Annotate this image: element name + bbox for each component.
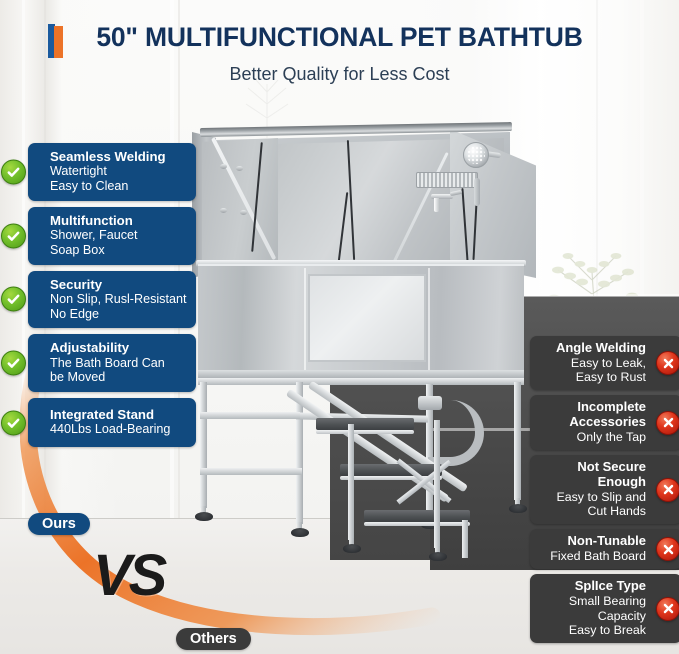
stand-leg	[514, 382, 521, 500]
drawback-title: Not Secure Enough	[537, 460, 646, 490]
page-subtitle: Better Quality for Less Cost	[0, 64, 679, 85]
feature-line: Easy to Clean	[50, 179, 187, 194]
stair-stringer	[286, 389, 450, 503]
check-icon	[1, 223, 26, 248]
others-drawback-item[interactable]: Non-Tunable Fixed Bath Board	[530, 529, 679, 569]
others-drawback-item[interactable]: SplIce Type Small Bearing Capacity Easy …	[530, 574, 679, 643]
cross-icon	[656, 351, 679, 375]
ours-feature-item[interactable]: Multifunction Shower, Faucet Soap Box	[28, 207, 196, 265]
ours-feature-list: Seamless Welding Watertight Easy to Clea…	[28, 143, 196, 453]
drawback-line: Only the Tap	[537, 430, 646, 444]
check-icon	[1, 351, 26, 376]
drawback-line: Easy to Leak,	[537, 356, 646, 370]
stand-cross-rail	[200, 412, 300, 419]
feature-line: Watertight	[50, 164, 187, 179]
stair-tread	[340, 464, 442, 476]
drawback-line: Cut Hands	[537, 504, 646, 518]
wall-knob	[240, 210, 247, 215]
shower-hose-holder	[474, 178, 480, 206]
feature-line: Non Slip, Rusl-Resistant	[50, 292, 187, 307]
wall-knob	[220, 208, 227, 213]
wall-knob	[236, 166, 243, 171]
others-drawback-item[interactable]: Not Secure Enough Easy to Slip and Cut H…	[530, 455, 679, 524]
stair-tread-lip	[316, 430, 414, 434]
feature-title: Seamless Welding	[50, 149, 187, 164]
feature-line: Shower, Faucet	[50, 228, 187, 243]
page-title: 50" MULTIFUNCTIONAL PET BATHTUB	[0, 22, 679, 53]
tub-seam	[428, 268, 430, 372]
drawback-title: Angle Welding	[537, 341, 646, 356]
adjustable-foot	[195, 512, 213, 521]
adjustable-foot	[509, 504, 527, 513]
feature-line: 440Lbs Load-Bearing	[50, 422, 187, 437]
soap-box-grate	[416, 172, 478, 188]
shower-head-nozzles	[467, 146, 485, 164]
drawback-line: Easy to Slip and	[537, 490, 646, 504]
drawback-line: Small Bearing Capacity	[537, 594, 646, 623]
bath-board-panel	[308, 274, 426, 362]
ours-label-pill: Ours	[28, 513, 90, 535]
product-image	[178, 112, 550, 572]
ours-feature-item[interactable]: Adjustability The Bath Board Can be Move…	[28, 334, 196, 392]
stair-leg	[434, 420, 440, 548]
cross-icon	[656, 597, 679, 621]
others-drawback-list: Angle Welding Easy to Leak, Easy to Rust…	[530, 336, 679, 648]
ours-feature-item[interactable]: Integrated Stand 440Lbs Load-Bearing	[28, 398, 196, 447]
three-step-stairs	[288, 380, 508, 580]
drawback-line: Fixed Bath Board	[537, 549, 646, 563]
drawback-line: Easy to Rust	[537, 370, 646, 384]
versus-label: VS	[93, 547, 164, 605]
stand-leg	[200, 382, 207, 508]
faucet-spout	[434, 198, 439, 212]
adjustable-foot	[429, 552, 447, 561]
stair-leg	[462, 520, 468, 558]
check-icon	[1, 159, 26, 184]
feature-title: Security	[50, 277, 187, 292]
feature-line: No Edge	[50, 307, 187, 322]
drawback-title: Non-Tunable	[537, 534, 646, 549]
feature-title: Adjustability	[50, 340, 187, 355]
feature-title: Multifunction	[50, 213, 187, 228]
others-drawback-item[interactable]: Angle Welding Easy to Leak, Easy to Rust	[530, 336, 679, 390]
tub-seam	[304, 268, 306, 372]
drawback-title: SplIce Type	[537, 579, 646, 594]
wall-knob	[220, 164, 227, 169]
stair-tread	[316, 418, 414, 430]
feature-line: Soap Box	[50, 243, 187, 258]
ours-feature-item[interactable]: Security Non Slip, Rusl-Resistant No Edg…	[28, 271, 196, 329]
feature-title: Integrated Stand	[50, 407, 187, 422]
stair-tread	[364, 510, 470, 522]
infographic-canvas: 50" MULTIFUNCTIONAL PET BATHTUB Better Q…	[0, 0, 679, 654]
cross-icon	[656, 478, 679, 502]
stair-tread-lip	[364, 522, 470, 526]
adjustable-foot	[343, 544, 361, 553]
cross-icon	[656, 411, 679, 435]
cross-icon	[656, 537, 679, 561]
others-drawback-item[interactable]: Incomplete Accessories Only the Tap	[530, 395, 679, 450]
ours-feature-item[interactable]: Seamless Welding Watertight Easy to Clea…	[28, 143, 196, 201]
feature-line: The Bath Board Can	[50, 356, 187, 371]
stand-cross-rail	[200, 468, 302, 475]
drawback-title: Incomplete Accessories	[537, 400, 646, 430]
others-label-pill: Others	[176, 628, 251, 650]
feature-line: be Moved	[50, 370, 187, 385]
drawback-line: Easy to Break	[537, 623, 646, 637]
check-icon	[1, 410, 26, 435]
stair-leg	[348, 424, 354, 540]
page-title-text: 50" MULTIFUNCTIONAL PET BATHTUB	[0, 22, 679, 53]
check-icon	[1, 287, 26, 312]
